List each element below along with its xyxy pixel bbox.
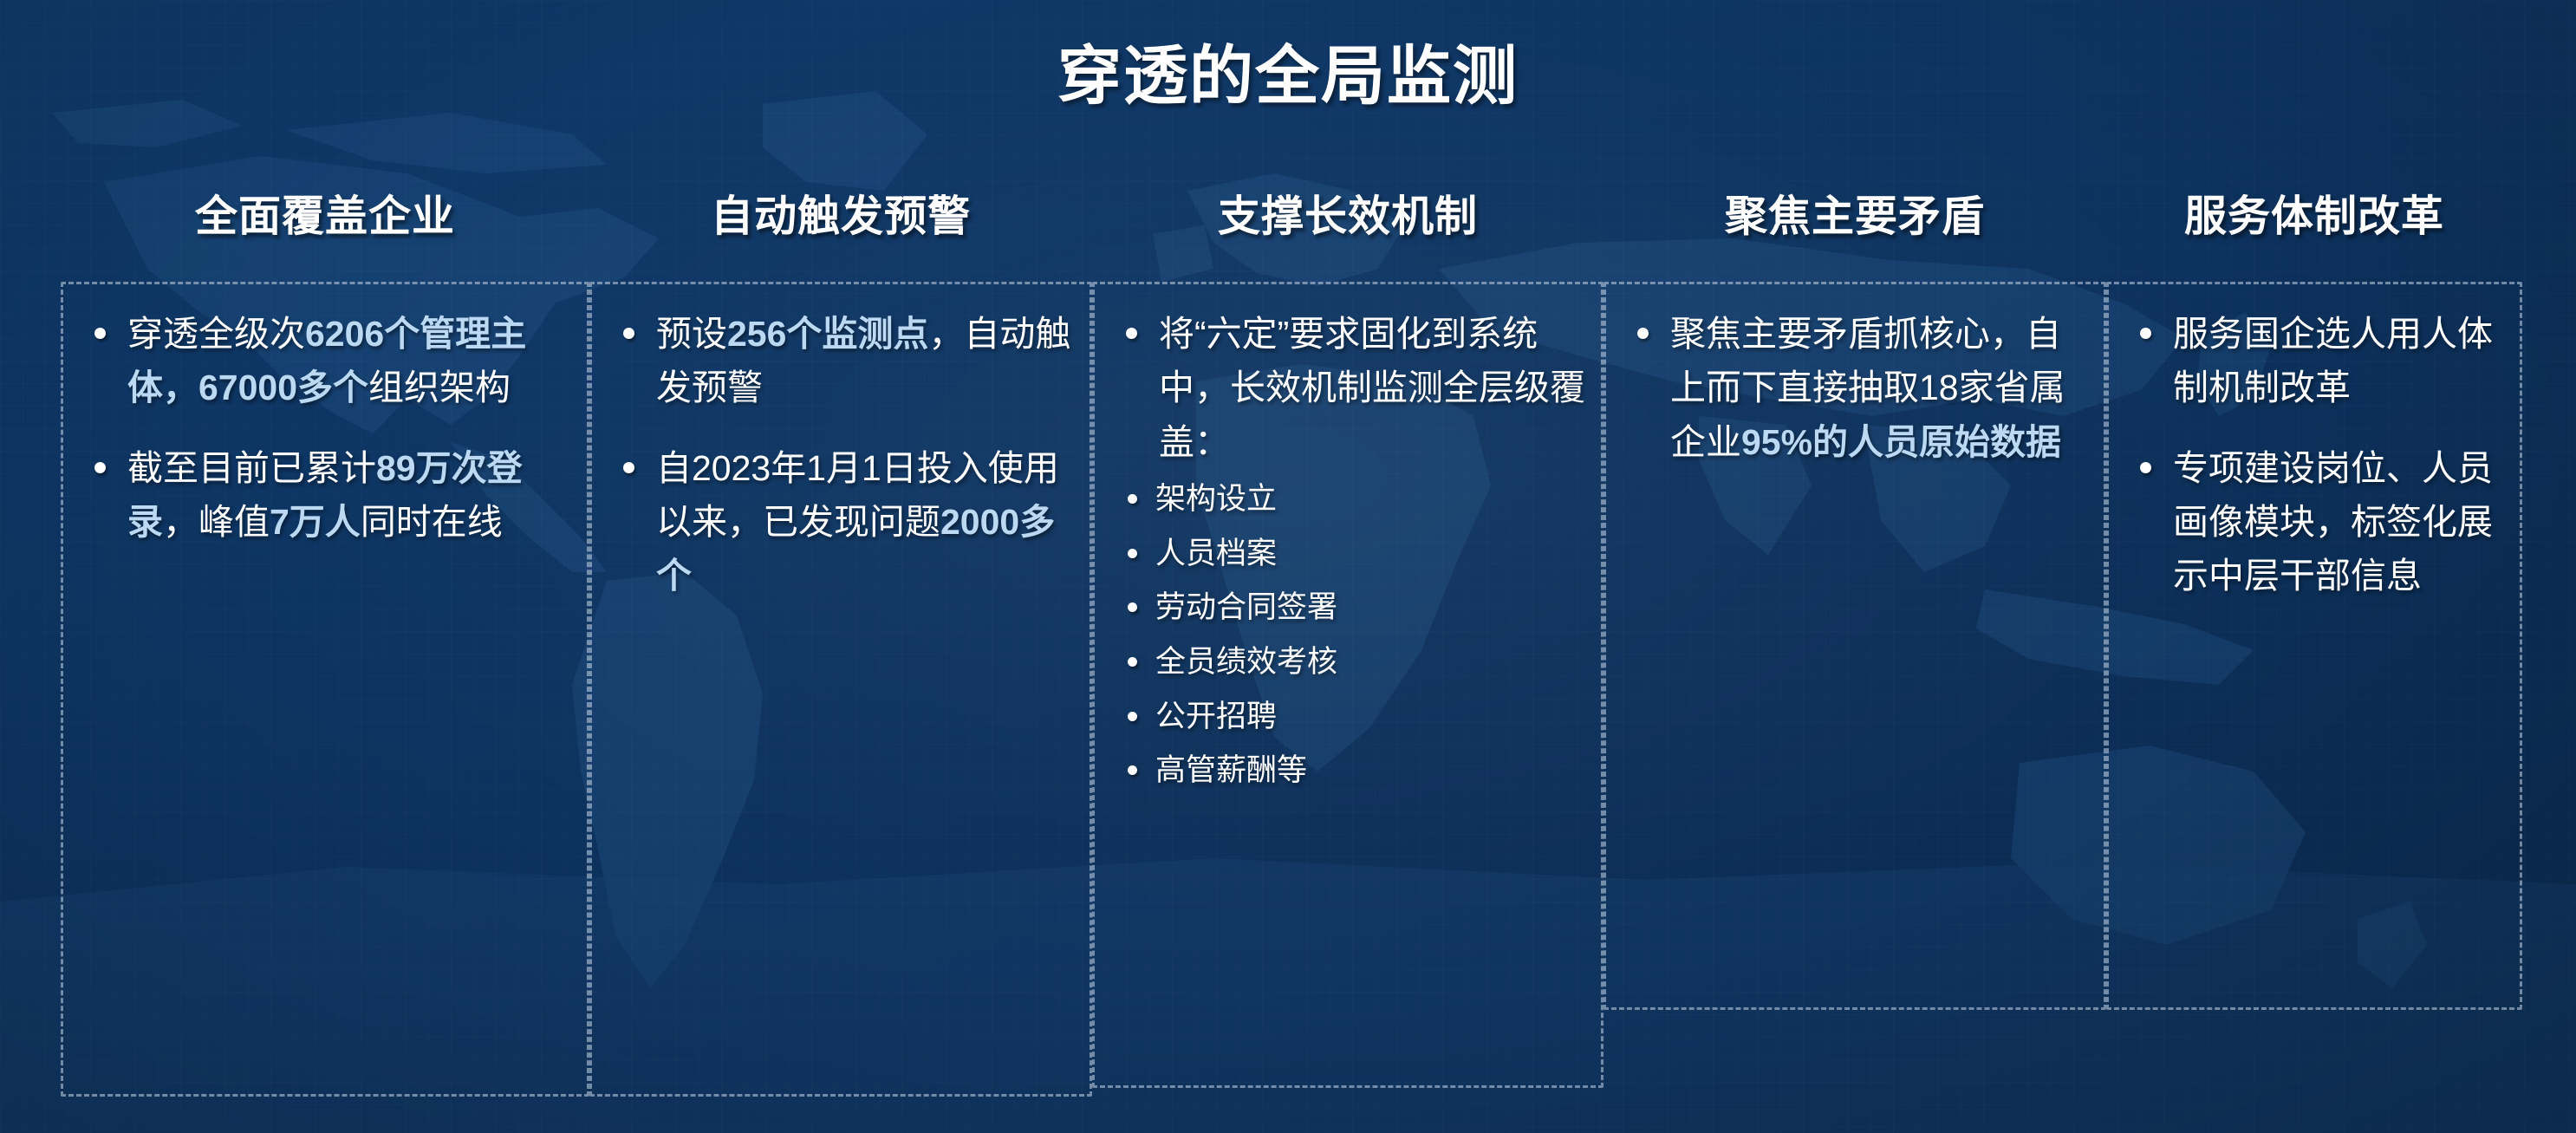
bullet-dot-icon xyxy=(1128,657,1137,667)
bullet-dot-icon xyxy=(1126,328,1137,339)
bullet-dot-icon xyxy=(1128,602,1137,612)
slide-canvas: 穿透的全局监测 全面覆盖企业 穿透全级次6206个管理主体，67000多个组织架… xyxy=(0,0,2576,1133)
column-ju-jiao-zhu-yao-mao-dun: 聚焦主要矛盾 聚焦主要矛盾抓核心，自上而下直接抽取18家省属企业95%的人员原始… xyxy=(1603,182,2106,1010)
list-item: 高管薪酬等 xyxy=(1107,749,1585,792)
column-zi-dong-chu-fa-yu-jing: 自动触发预警 预设256个监测点，自动触发预警 自2023年1月1日投入使用以来… xyxy=(589,182,1092,1097)
bullet-text: 自2023年1月1日投入使用以来，已发现问题2000多个 xyxy=(656,448,1059,596)
sub-bullet-text: 劳动合同签署 xyxy=(1155,590,1337,624)
list-item: 全员绩效考核 xyxy=(1107,641,1585,684)
column-zhi-cheng-chang-xiao-ji-zhi: 支撑长效机制 将“六定”要求固化到系统中，长效机制监测全层级覆盖： 架构设立人员… xyxy=(1092,182,1603,1088)
page-title: 穿透的全局监测 xyxy=(0,24,2576,117)
sub-bullet-list: 架构设立人员档案劳动合同签署全员绩效考核公开招聘高管薪酬等 xyxy=(1107,478,1585,792)
list-item: 预设256个监测点，自动触发预警 xyxy=(604,307,1074,415)
list-item: 专项建设岗位、人员画像模块，标签化展示中层干部信息 xyxy=(2121,441,2504,603)
list-item: 架构设立 xyxy=(1107,478,1585,521)
highlighted-text: 95%的人员原始数据 xyxy=(1741,422,2061,462)
bullet-dot-icon xyxy=(94,462,106,473)
bullet-dot-icon xyxy=(1128,549,1137,558)
bullet-dot-icon xyxy=(1128,494,1137,504)
bullet-list: 服务国企选人用人体制机制改革 专项建设岗位、人员画像模块，标签化展示中层干部信息 xyxy=(2121,307,2504,603)
bullet-list: 将“六定”要求固化到系统中，长效机制监测全层级覆盖： xyxy=(1107,307,1585,469)
sub-bullet-text: 全员绩效考核 xyxy=(1155,645,1337,679)
plain-text: 服务国企选人用人体制机制改革 xyxy=(2173,314,2493,407)
bullet-dot-icon xyxy=(2140,328,2151,339)
column-body: 聚焦主要矛盾抓核心，自上而下直接抽取18家省属企业95%的人员原始数据 xyxy=(1603,282,2106,1010)
bullet-text: 截至目前已累计89万次登录，峰值7万人同时在线 xyxy=(127,448,523,542)
bullet-dot-icon xyxy=(2140,462,2151,473)
list-item: 服务国企选人用人体制机制改革 xyxy=(2121,307,2504,415)
bullet-text: 预设256个监测点，自动触发预警 xyxy=(656,314,1070,407)
column-body: 预设256个监测点，自动触发预警 自2023年1月1日投入使用以来，已发现问题2… xyxy=(589,282,1092,1097)
list-item: 穿透全级次6206个管理主体，67000多个组织架构 xyxy=(75,307,571,415)
list-item: 人员档案 xyxy=(1107,532,1585,576)
bullet-text: 将“六定”要求固化到系统中，长效机制监测全层级覆盖： xyxy=(1159,314,1585,462)
plain-text: 预设 xyxy=(656,314,727,354)
bullet-dot-icon xyxy=(1128,712,1137,721)
column-quan-mian-fu-gai-qi-ye: 全面覆盖企业 穿透全级次6206个管理主体，67000多个组织架构 截至目前已累… xyxy=(61,182,589,1097)
bullet-text: 服务国企选人用人体制机制改革 xyxy=(2173,314,2493,407)
column-body: 穿透全级次6206个管理主体，67000多个组织架构 截至目前已累计89万次登录… xyxy=(61,282,589,1097)
list-item: 将“六定”要求固化到系统中，长效机制监测全层级覆盖： xyxy=(1107,307,1585,469)
plain-text: 专项建设岗位、人员画像模块，标签化展示中层干部信息 xyxy=(2173,448,2493,596)
bullet-list: 预设256个监测点，自动触发预警 自2023年1月1日投入使用以来，已发现问题2… xyxy=(604,307,1074,603)
list-item: 劳动合同签署 xyxy=(1107,586,1585,629)
bullet-text: 专项建设岗位、人员画像模块，标签化展示中层干部信息 xyxy=(2173,448,2493,596)
sub-bullet-text: 高管薪酬等 xyxy=(1155,753,1307,787)
highlighted-text: 7万人 xyxy=(270,502,361,542)
bullet-text: 聚焦主要矛盾抓核心，自上而下直接抽取18家省属企业95%的人员原始数据 xyxy=(1670,314,2065,462)
columns-container: 全面覆盖企业 穿透全级次6206个管理主体，67000多个组织架构 截至目前已累… xyxy=(61,182,2522,1097)
bullet-dot-icon xyxy=(94,328,106,339)
bullet-list: 穿透全级次6206个管理主体，67000多个组织架构 截至目前已累计89万次登录… xyxy=(75,307,571,549)
column-header: 全面覆盖企业 xyxy=(61,182,589,244)
column-fu-wu-ti-zhi-gai-ge: 服务体制改革 服务国企选人用人体制机制改革 专项建设岗位、人员画像模块，标签化展… xyxy=(2106,182,2522,1010)
column-header: 支撑长效机制 xyxy=(1092,182,1603,244)
bullet-text: 穿透全级次6206个管理主体，67000多个组织架构 xyxy=(127,314,526,407)
plain-text: 穿透全级次 xyxy=(127,314,305,354)
plain-text: 截至目前已累计 xyxy=(127,448,376,488)
plain-text: 组织架构 xyxy=(368,368,511,407)
plain-text: ，峰值 xyxy=(163,502,270,542)
list-item: 公开招聘 xyxy=(1107,695,1585,739)
bullet-dot-icon xyxy=(1128,765,1137,775)
bullet-dot-icon xyxy=(1637,328,1649,339)
sub-bullet-text: 架构设立 xyxy=(1155,482,1277,516)
bullet-dot-icon xyxy=(623,462,634,473)
column-body: 服务国企选人用人体制机制改革 专项建设岗位、人员画像模块，标签化展示中层干部信息 xyxy=(2106,282,2522,1010)
column-header: 聚焦主要矛盾 xyxy=(1603,182,2106,244)
column-body: 将“六定”要求固化到系统中，长效机制监测全层级覆盖： 架构设立人员档案劳动合同签… xyxy=(1092,282,1603,1088)
list-item: 聚焦主要矛盾抓核心，自上而下直接抽取18家省属企业95%的人员原始数据 xyxy=(1618,307,2088,469)
highlighted-text: 256个监测点 xyxy=(727,314,928,354)
list-item: 截至目前已累计89万次登录，峰值7万人同时在线 xyxy=(75,441,571,550)
bullet-list: 聚焦主要矛盾抓核心，自上而下直接抽取18家省属企业95%的人员原始数据 xyxy=(1618,307,2088,469)
sub-bullet-text: 公开招聘 xyxy=(1155,700,1277,733)
column-header: 服务体制改革 xyxy=(2106,182,2522,244)
bullet-dot-icon xyxy=(623,328,634,339)
plain-text: 同时在线 xyxy=(361,502,503,542)
list-item: 自2023年1月1日投入使用以来，已发现问题2000多个 xyxy=(604,441,1074,603)
column-header: 自动触发预警 xyxy=(589,182,1092,244)
sub-bullet-text: 人员档案 xyxy=(1155,537,1277,570)
plain-text: 将“六定”要求固化到系统中，长效机制监测全层级覆盖： xyxy=(1159,314,1585,462)
